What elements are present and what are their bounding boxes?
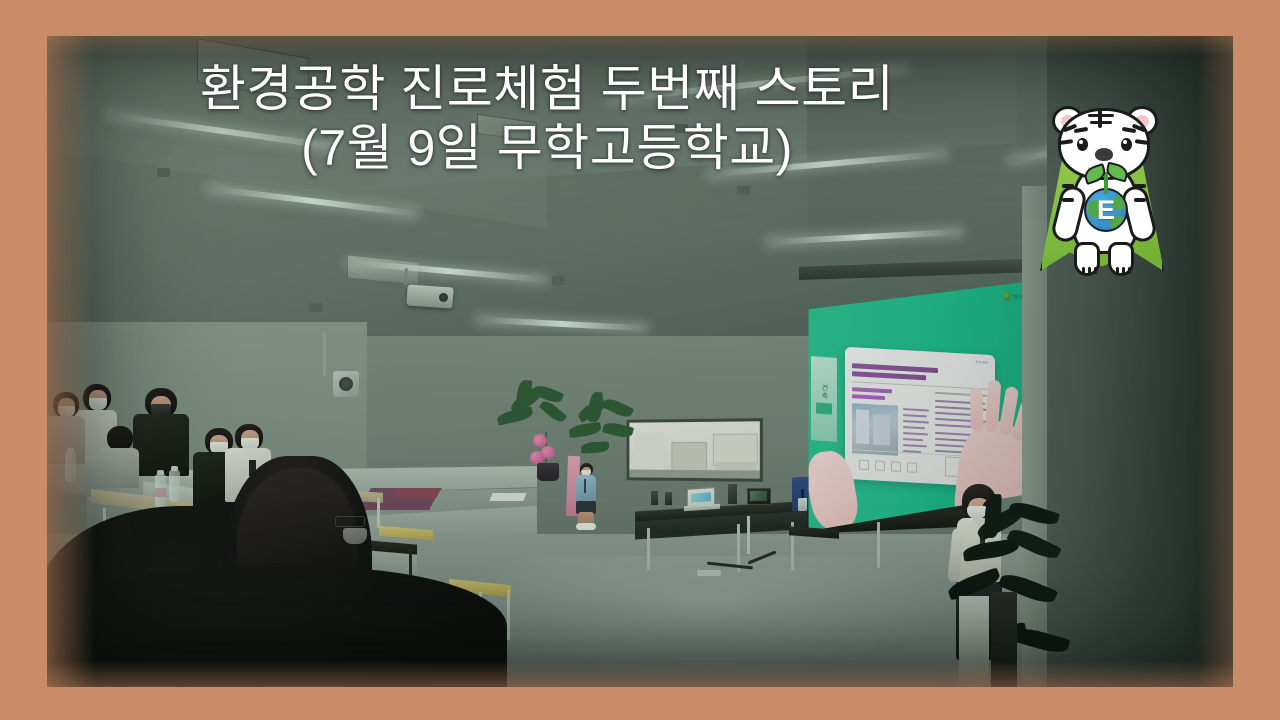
- mascot-stripe: [1062, 184, 1074, 188]
- paper-on-stage: [489, 493, 526, 501]
- face-mask: [343, 528, 367, 544]
- bottle-cap: [157, 470, 164, 475]
- desk-speaker: [651, 491, 658, 505]
- light-mount: [737, 186, 750, 195]
- screen-glare: [805, 279, 1049, 531]
- lab-viewing-window: [627, 418, 763, 482]
- bottle-label: [155, 488, 166, 497]
- mascot-leg-left: [1074, 242, 1100, 276]
- mascot-stripe: [1062, 198, 1074, 202]
- lanyard: [584, 479, 586, 493]
- ribbon-banner-dark: [991, 592, 1017, 687]
- power-strip: [697, 570, 721, 576]
- projector-lens: [439, 293, 449, 303]
- foreground-shadow-bottom: [47, 567, 507, 687]
- mascot-eye-right: [1121, 138, 1132, 151]
- desk-leg: [507, 590, 510, 640]
- desk-leg: [377, 498, 380, 528]
- seated-participant: [573, 463, 599, 531]
- globe-letter: E: [1086, 190, 1126, 230]
- mascot-sprout-stem: [1104, 172, 1108, 194]
- floor-mat-strip: [392, 488, 442, 498]
- orchid-flower: [533, 434, 547, 447]
- mascot-globe: E: [1084, 188, 1128, 232]
- light-mount: [675, 124, 688, 133]
- desk-leg: [747, 516, 750, 554]
- presentation-slide: 대구대학교 건축 news: [0, 0, 1280, 720]
- eco-tiger-mascot: E: [1022, 100, 1182, 290]
- mascot-stripe: [1098, 110, 1102, 128]
- mascot-leg-right: [1108, 242, 1134, 276]
- desk-speaker: [728, 484, 737, 504]
- speaker-mount: [323, 332, 326, 376]
- window-sill: [629, 470, 759, 479]
- water-bottle: [169, 470, 180, 502]
- mascot-eye-left: [1077, 138, 1088, 151]
- mascot-stripe: [1090, 121, 1112, 124]
- mascot-stripe: [1088, 114, 1114, 117]
- light-mount: [157, 168, 170, 177]
- mascot-stripe: [1134, 198, 1146, 202]
- orchid-pot: [537, 463, 559, 481]
- eyeglasses: [335, 516, 365, 527]
- shoes: [576, 523, 596, 530]
- torso: [576, 475, 596, 503]
- table-leg: [647, 528, 650, 570]
- ceiling-projector: [406, 284, 453, 308]
- light-mount: [552, 276, 565, 285]
- bottle-cap: [171, 466, 178, 471]
- water-bottle: [65, 452, 76, 482]
- beaker: [798, 498, 807, 511]
- light-mount: [309, 303, 322, 312]
- projection-screen: 대구대학교 건축 news: [805, 279, 1049, 531]
- wall-speaker: [333, 371, 359, 397]
- monitor: [747, 488, 771, 505]
- bottle-cap: [67, 448, 74, 453]
- mascot-stripe: [1134, 184, 1146, 188]
- desk-speaker: [665, 492, 672, 505]
- table-leg: [877, 522, 880, 568]
- ribbon-banner: [959, 596, 989, 687]
